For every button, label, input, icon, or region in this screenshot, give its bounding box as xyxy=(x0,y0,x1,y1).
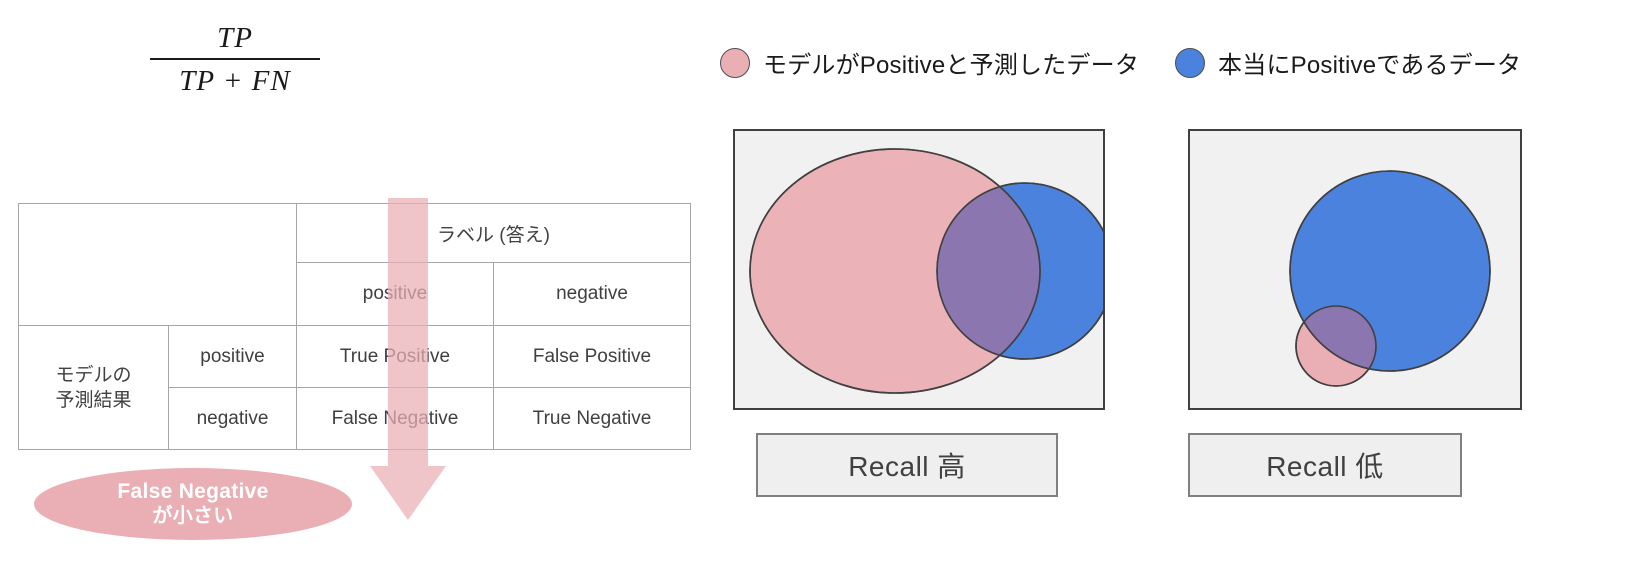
legend-item-actual-positive: 本当にPositiveであるデータ xyxy=(1175,45,1521,80)
formula-numerator: TP xyxy=(150,20,320,56)
matrix-row-header-negative: negative xyxy=(169,388,297,450)
recall-caption-box-low: Recall 低 xyxy=(1188,433,1462,497)
panel-low-recall: Recall 低 xyxy=(1188,129,1522,497)
legend-circle-icon-blue xyxy=(1175,48,1205,78)
table-row: ラベル (答え) xyxy=(19,204,691,263)
panel-high-recall: Recall 高 xyxy=(733,129,1105,497)
legend-item-predicted-positive: モデルがPositiveと予測したデータ xyxy=(720,45,1139,80)
formula-fraction-bar xyxy=(150,58,320,60)
callout-line2: が小さい xyxy=(152,504,233,529)
matrix-col-header-negative: negative xyxy=(494,263,691,326)
recall-formula: TP TP + FN xyxy=(150,20,320,100)
confusion-matrix-table: ラベル (答え) positive negative モデルの 予測結果 pos… xyxy=(18,203,691,450)
matrix-corner-blank xyxy=(19,204,297,326)
venn-diagram-low-recall xyxy=(1190,131,1520,408)
legend: モデルがPositiveと予測したデータ 本当にPositiveであるデータ xyxy=(720,45,1521,80)
recall-caption-high: Recall 高 xyxy=(848,445,966,485)
matrix-cell-true-positive: True Positive xyxy=(297,326,494,388)
legend-label-predicted-positive: モデルがPositiveと予測したデータ xyxy=(763,45,1139,80)
matrix-row-group-label: モデルの 予測結果 xyxy=(19,326,169,450)
table-row: モデルの 予測結果 positive True Positive False P… xyxy=(19,326,691,388)
venn-diagram-high-recall xyxy=(735,131,1103,408)
legend-circle-icon-pink xyxy=(720,48,750,78)
matrix-row-group-label-line2: 予測結果 xyxy=(19,388,168,413)
matrix-cell-false-negative: False Negative xyxy=(297,388,494,450)
legend-label-actual-positive: 本当にPositiveであるデータ xyxy=(1218,45,1521,80)
recall-caption-box-high: Recall 高 xyxy=(756,433,1058,497)
matrix-cell-true-negative: True Negative xyxy=(494,388,691,450)
false-negative-callout: False Negative が小さい xyxy=(34,468,352,540)
formula-denominator: TP + FN xyxy=(150,62,320,100)
callout-line1: False Negative xyxy=(117,479,268,504)
venn-box-low-recall xyxy=(1188,129,1522,410)
matrix-label-header: ラベル (答え) xyxy=(297,204,691,263)
matrix-row-header-positive: positive xyxy=(169,326,297,388)
matrix-col-header-positive: positive xyxy=(297,263,494,326)
matrix-cell-false-positive: False Positive xyxy=(494,326,691,388)
venn-box-high-recall xyxy=(733,129,1105,410)
matrix-row-group-label-line1: モデルの xyxy=(19,363,168,388)
recall-caption-low: Recall 低 xyxy=(1266,445,1384,485)
